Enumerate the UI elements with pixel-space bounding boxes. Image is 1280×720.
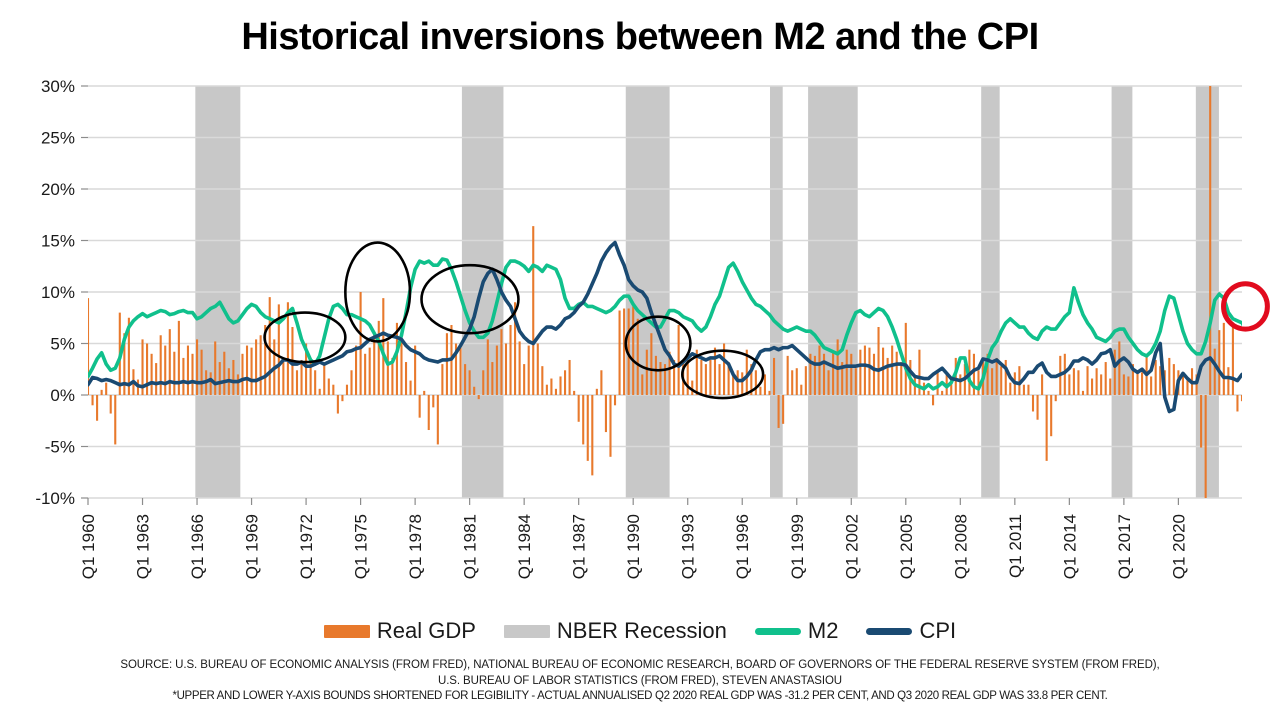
legend-label: CPI: [919, 618, 956, 644]
annotation-inversion-2022: [1224, 284, 1268, 329]
x-tick-label-19: Q1 2017: [1115, 514, 1134, 579]
legend-swatch-nber-recession: [504, 625, 550, 638]
x-tick-label-4: Q1 1972: [297, 514, 316, 579]
x-axis: Q1 1960Q1 1963Q1 1966Q1 1969Q1 1972Q1 19…: [79, 498, 1188, 579]
x-tick-label-15: Q1 2005: [897, 514, 916, 579]
chart-legend: Real GDPNBER RecessionM2CPI: [0, 618, 1280, 644]
series-m2: [88, 140, 1280, 389]
y-tick-label-1: 25%: [41, 129, 75, 148]
chart-page: Historical inversions between M2 and the…: [0, 0, 1280, 720]
x-tick-label-1: Q1 1963: [134, 514, 153, 579]
x-tick-label-9: Q1 1987: [570, 514, 589, 579]
x-tick-label-2: Q1 1966: [188, 514, 207, 579]
line-m2: [88, 140, 1280, 389]
y-tick-label-7: -5%: [45, 438, 75, 457]
x-tick-label-13: Q1 1999: [788, 514, 807, 579]
x-tick-label-14: Q1 2002: [842, 514, 861, 579]
x-tick-label-5: Q1 1975: [352, 514, 371, 579]
legend-swatch-cpi: [866, 628, 912, 635]
x-tick-label-6: Q1 1978: [406, 514, 425, 579]
y-tick-label-2: 20%: [41, 180, 75, 199]
x-tick-label-3: Q1 1969: [243, 514, 262, 579]
y-tick-label-4: 10%: [41, 283, 75, 302]
legend-label: Real GDP: [377, 618, 476, 644]
source-line-2: U.S. BUREAU OF LABOR STATISTICS (FROM FR…: [0, 674, 1280, 690]
y-axis: 30%25%20%15%10%5%0%-5%-10%: [35, 77, 88, 508]
y-tick-label-3: 15%: [41, 232, 75, 251]
x-tick-label-18: Q1 2014: [1060, 514, 1079, 579]
legend-item-nber-recession[interactable]: NBER Recession: [504, 618, 727, 644]
legend-item-m2[interactable]: M2: [755, 618, 839, 644]
x-tick-label-7: Q1 1981: [461, 514, 480, 579]
source-line-1: SOURCE: U.S. BUREAU OF ECONOMIC ANALYSIS…: [0, 658, 1280, 674]
source-line-3: *UPPER AND LOWER Y-AXIS BOUNDS SHORTENED…: [0, 689, 1280, 705]
y-tick-label-5: 5%: [50, 335, 75, 354]
chart-plot-area: 30%25%20%15%10%5%0%-5%-10%Q1 1960Q1 1963…: [0, 0, 1280, 620]
x-tick-label-8: Q1 1984: [515, 514, 534, 579]
y-tick-label-8: -10%: [35, 489, 75, 508]
x-tick-label-17: Q1 2011: [1006, 514, 1025, 578]
x-tick-label-12: Q1 1996: [733, 514, 752, 579]
legend-swatch-real-gdp: [324, 625, 370, 638]
x-tick-label-0: Q1 1960: [79, 514, 98, 579]
annotation-inversion-1960s: [265, 313, 346, 362]
x-tick-label-20: Q1 2020: [1169, 514, 1188, 579]
x-tick-label-16: Q1 2008: [951, 514, 970, 579]
y-tick-label-6: 0%: [50, 386, 75, 405]
x-tick-label-11: Q1 1993: [679, 514, 698, 579]
y-tick-label-0: 30%: [41, 77, 75, 96]
legend-label: NBER Recession: [557, 618, 727, 644]
source-footnote: SOURCE: U.S. BUREAU OF ECONOMIC ANALYSIS…: [0, 658, 1280, 705]
legend-swatch-m2: [755, 628, 801, 635]
x-tick-label-10: Q1 1990: [624, 514, 643, 579]
legend-label: M2: [808, 618, 839, 644]
legend-item-real-gdp[interactable]: Real GDP: [324, 618, 476, 644]
legend-item-cpi[interactable]: CPI: [866, 618, 956, 644]
